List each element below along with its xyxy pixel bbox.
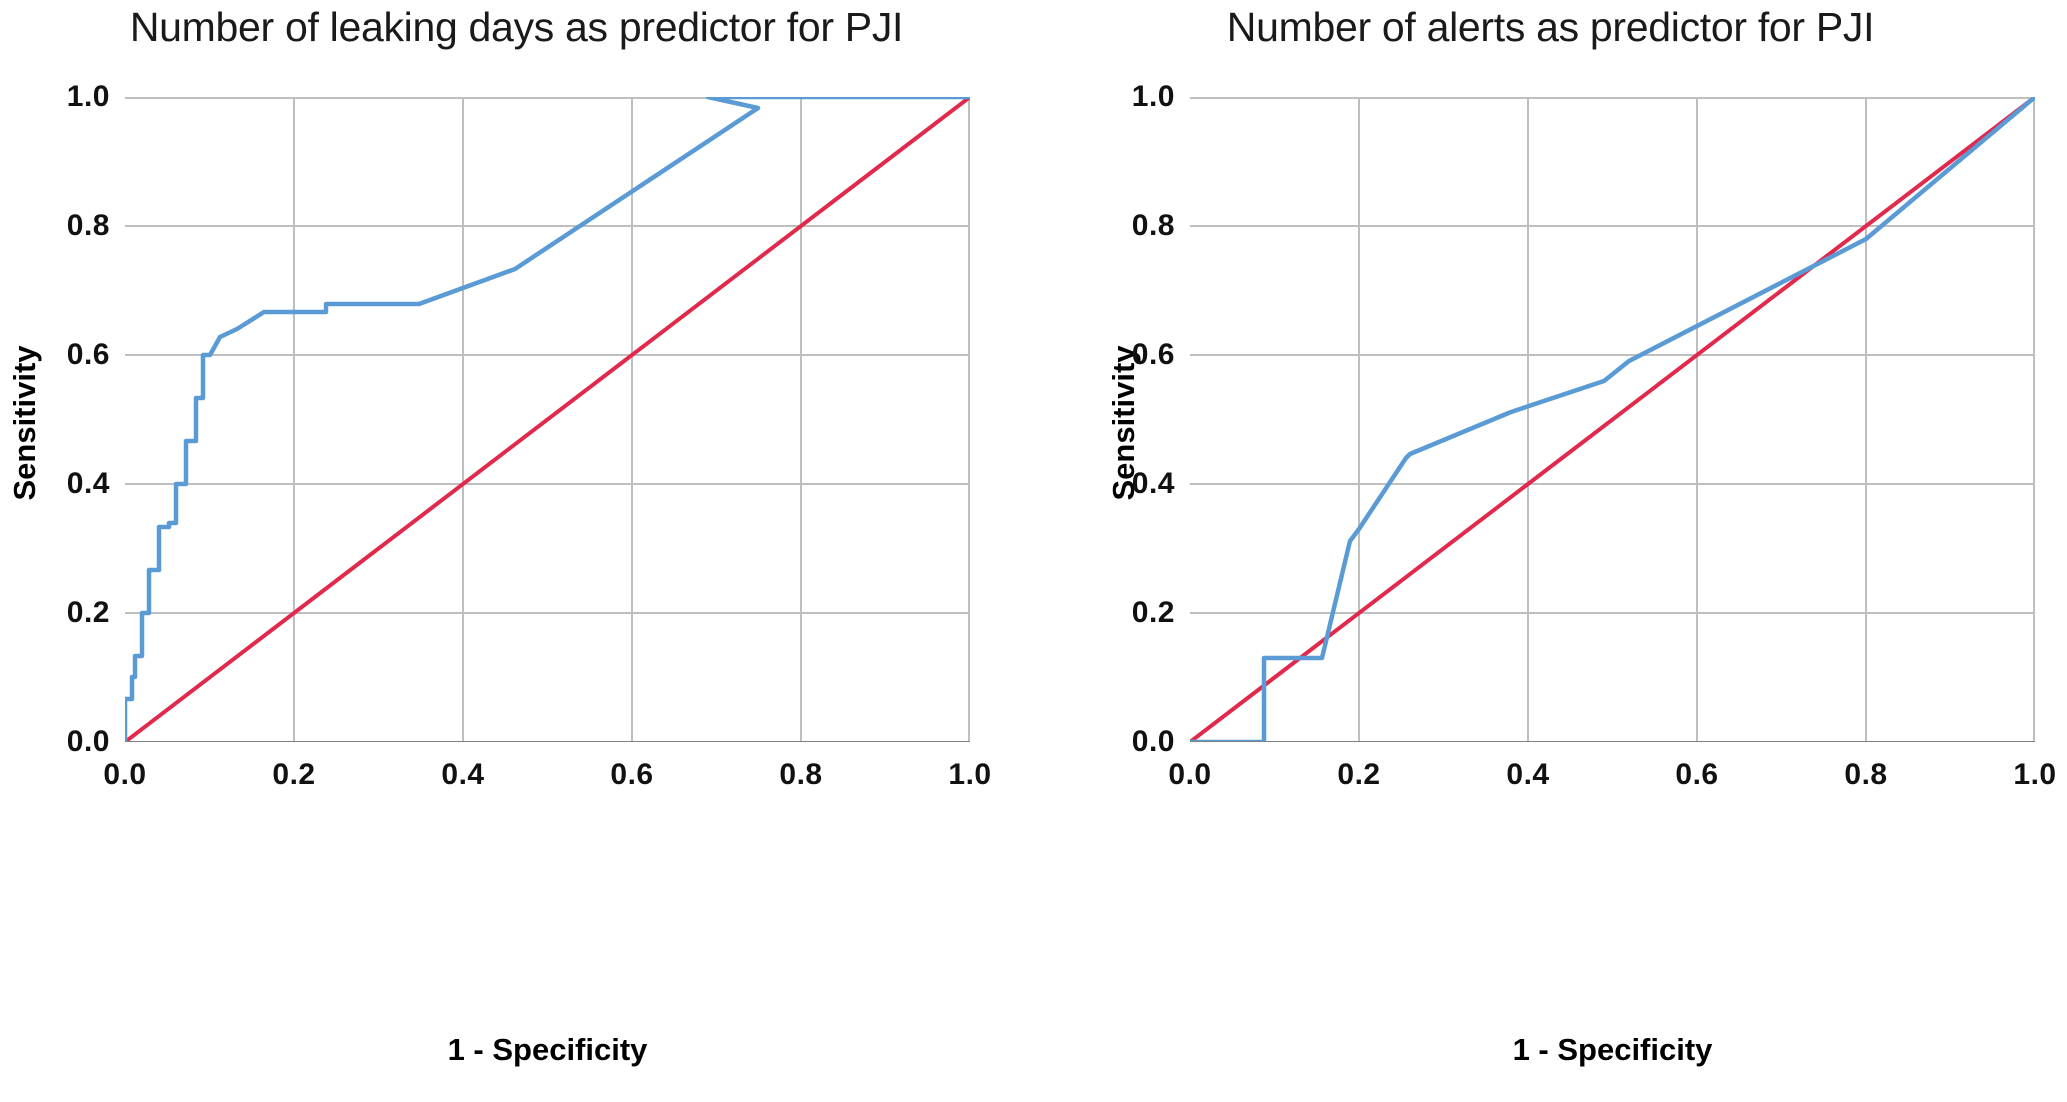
right-xtick-4: 0.6 [1675, 758, 1718, 792]
left-reference-line [125, 97, 970, 742]
right-xtick-1: 0.0 [1168, 758, 1211, 792]
right-reference-line [1190, 97, 2035, 742]
left-ytick-3: 0.6 [42, 338, 110, 372]
left-ytick-1: 1.0 [42, 80, 110, 114]
left-ytick-2: 0.8 [42, 209, 110, 243]
left-xtick-6: 1.0 [948, 758, 991, 792]
left-ytick-4: 0.4 [42, 467, 110, 501]
right-x-axis-title: 1 - Specificity [1190, 1032, 2035, 1068]
right-xtick-6: 1.0 [2013, 758, 2056, 792]
right-ytick-1: 1.0 [1107, 80, 1175, 114]
left-roc-svg [125, 97, 970, 742]
roc-figure: Number of leaking days as predictor for … [0, 0, 2067, 1102]
right-ytick-3: 0.6 [1107, 338, 1175, 372]
right-gridlines-horizontal [1190, 98, 2035, 613]
left-xtick-1: 0.0 [103, 758, 146, 792]
left-xtick-2: 0.2 [272, 758, 315, 792]
right-roc-svg [1190, 97, 2035, 742]
left-gridlines-horizontal [125, 98, 970, 613]
left-x-axis-title: 1 - Specificity [125, 1032, 970, 1068]
right-ytick-6: 0.0 [1107, 725, 1175, 759]
right-ytick-5: 0.2 [1107, 596, 1175, 630]
panel-left-title: Number of leaking days as predictor for … [0, 4, 1033, 51]
left-ytick-6: 0.0 [42, 725, 110, 759]
right-xtick-3: 0.4 [1506, 758, 1549, 792]
right-ytick-2: 0.8 [1107, 209, 1175, 243]
right-xtick-2: 0.2 [1337, 758, 1380, 792]
left-plot-area [125, 97, 970, 742]
left-y-axis-title: Sensitivity [7, 323, 43, 523]
left-ytick-5: 0.2 [42, 596, 110, 630]
left-xtick-3: 0.4 [441, 758, 484, 792]
right-plot-area [1190, 97, 2035, 742]
panel-left: Number of leaking days as predictor for … [0, 0, 1033, 1102]
left-xtick-4: 0.6 [610, 758, 653, 792]
right-xtick-5: 0.8 [1844, 758, 1887, 792]
right-ytick-4: 0.4 [1107, 467, 1175, 501]
right-gridlines-vertical [1359, 97, 2034, 742]
left-xtick-5: 0.8 [779, 758, 822, 792]
panel-right-title: Number of alerts as predictor for PJI [1034, 4, 2067, 51]
panel-right: Number of alerts as predictor for PJI Se… [1034, 0, 2067, 1102]
